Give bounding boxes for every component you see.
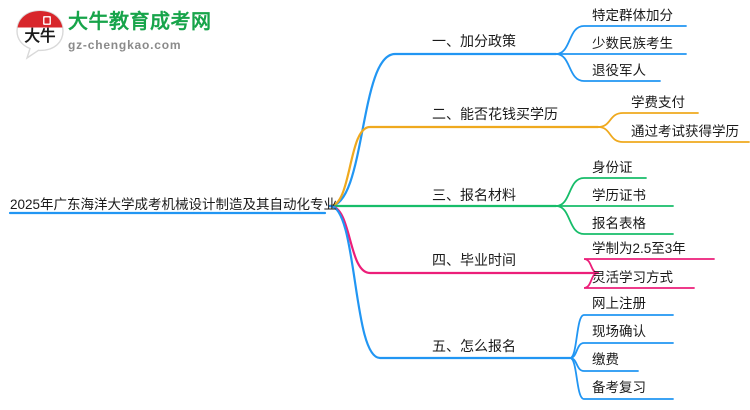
branch-label-2[interactable]: 二、能否花钱买学历	[432, 106, 558, 122]
child-label-5-3[interactable]: 缴费	[592, 352, 619, 368]
child-label-5-2[interactable]: 现场确认	[592, 324, 646, 340]
child-label-1-1[interactable]: 特定群体加分	[592, 8, 673, 24]
child-label-5-1[interactable]: 网上注册	[592, 296, 646, 312]
branch-label-5[interactable]: 五、怎么报名	[432, 338, 516, 354]
child-label-5-4[interactable]: 备考复习	[592, 380, 646, 396]
mindmap-labels: 2025年广东海洋大学成考机械设计制造及其自动化专业一、加分政策特定群体加分少数…	[0, 0, 750, 410]
branch-label-4[interactable]: 四、毕业时间	[432, 252, 516, 268]
child-label-1-2[interactable]: 少数民族考生	[592, 36, 673, 52]
child-label-4-2[interactable]: 灵活学习方式	[592, 270, 673, 286]
child-label-2-2[interactable]: 通过考试获得学历	[631, 124, 739, 140]
child-label-4-1[interactable]: 学制为2.5至3年	[592, 241, 686, 257]
root-node-label[interactable]: 2025年广东海洋大学成考机械设计制造及其自动化专业	[10, 197, 337, 213]
child-label-1-3[interactable]: 退役军人	[592, 63, 646, 79]
child-label-3-2[interactable]: 学历证书	[592, 188, 646, 204]
child-label-3-1[interactable]: 身份证	[592, 160, 633, 176]
branch-label-3[interactable]: 三、报名材料	[432, 187, 516, 203]
branch-label-1[interactable]: 一、加分政策	[432, 33, 516, 49]
child-label-2-1[interactable]: 学费支付	[631, 95, 685, 111]
child-label-3-3[interactable]: 报名表格	[592, 216, 646, 232]
